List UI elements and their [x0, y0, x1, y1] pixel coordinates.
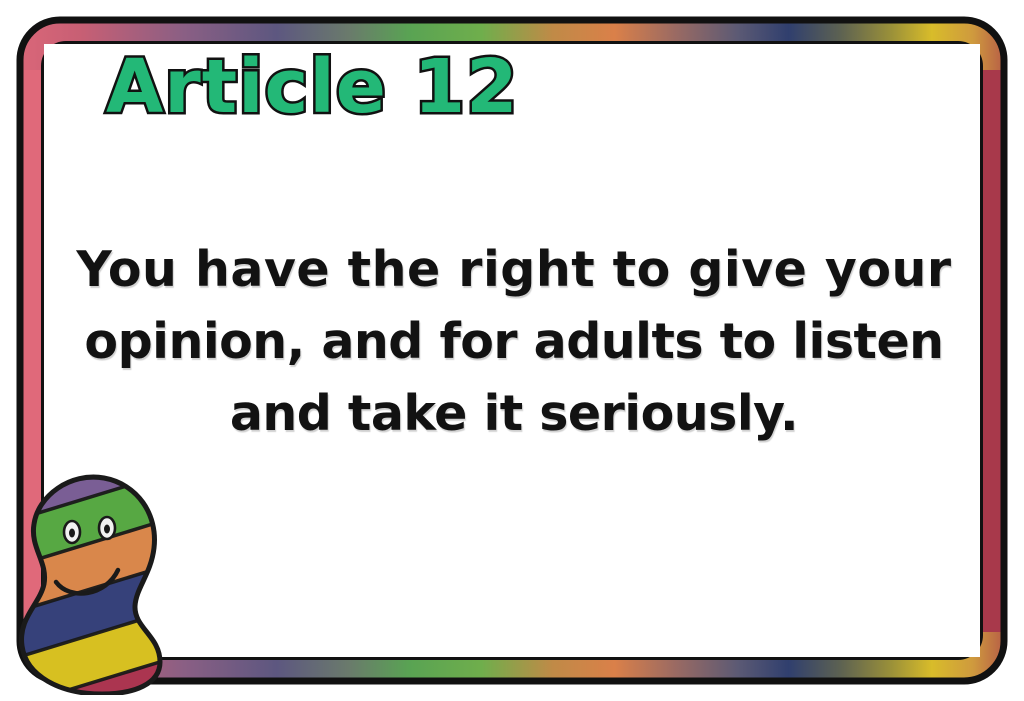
body-line-2: opinion, and for adults to listen [74, 306, 954, 378]
article-body-text: You have the right to give your opinion,… [74, 234, 954, 450]
body-line-3: and take it seriously. [74, 378, 954, 450]
page-title: Article 12 [106, 50, 519, 124]
rainbow-bean-mascot [8, 470, 178, 695]
card-content-area: Article 12 You have the right to give yo… [44, 44, 980, 657]
poster-canvas: Article 12 You have the right to give yo… [0, 0, 1024, 701]
body-line-1: You have the right to give your [74, 234, 954, 306]
mascot-right-pupil [104, 525, 110, 534]
mascot-stripes [8, 470, 178, 695]
mascot-left-pupil [69, 529, 75, 538]
